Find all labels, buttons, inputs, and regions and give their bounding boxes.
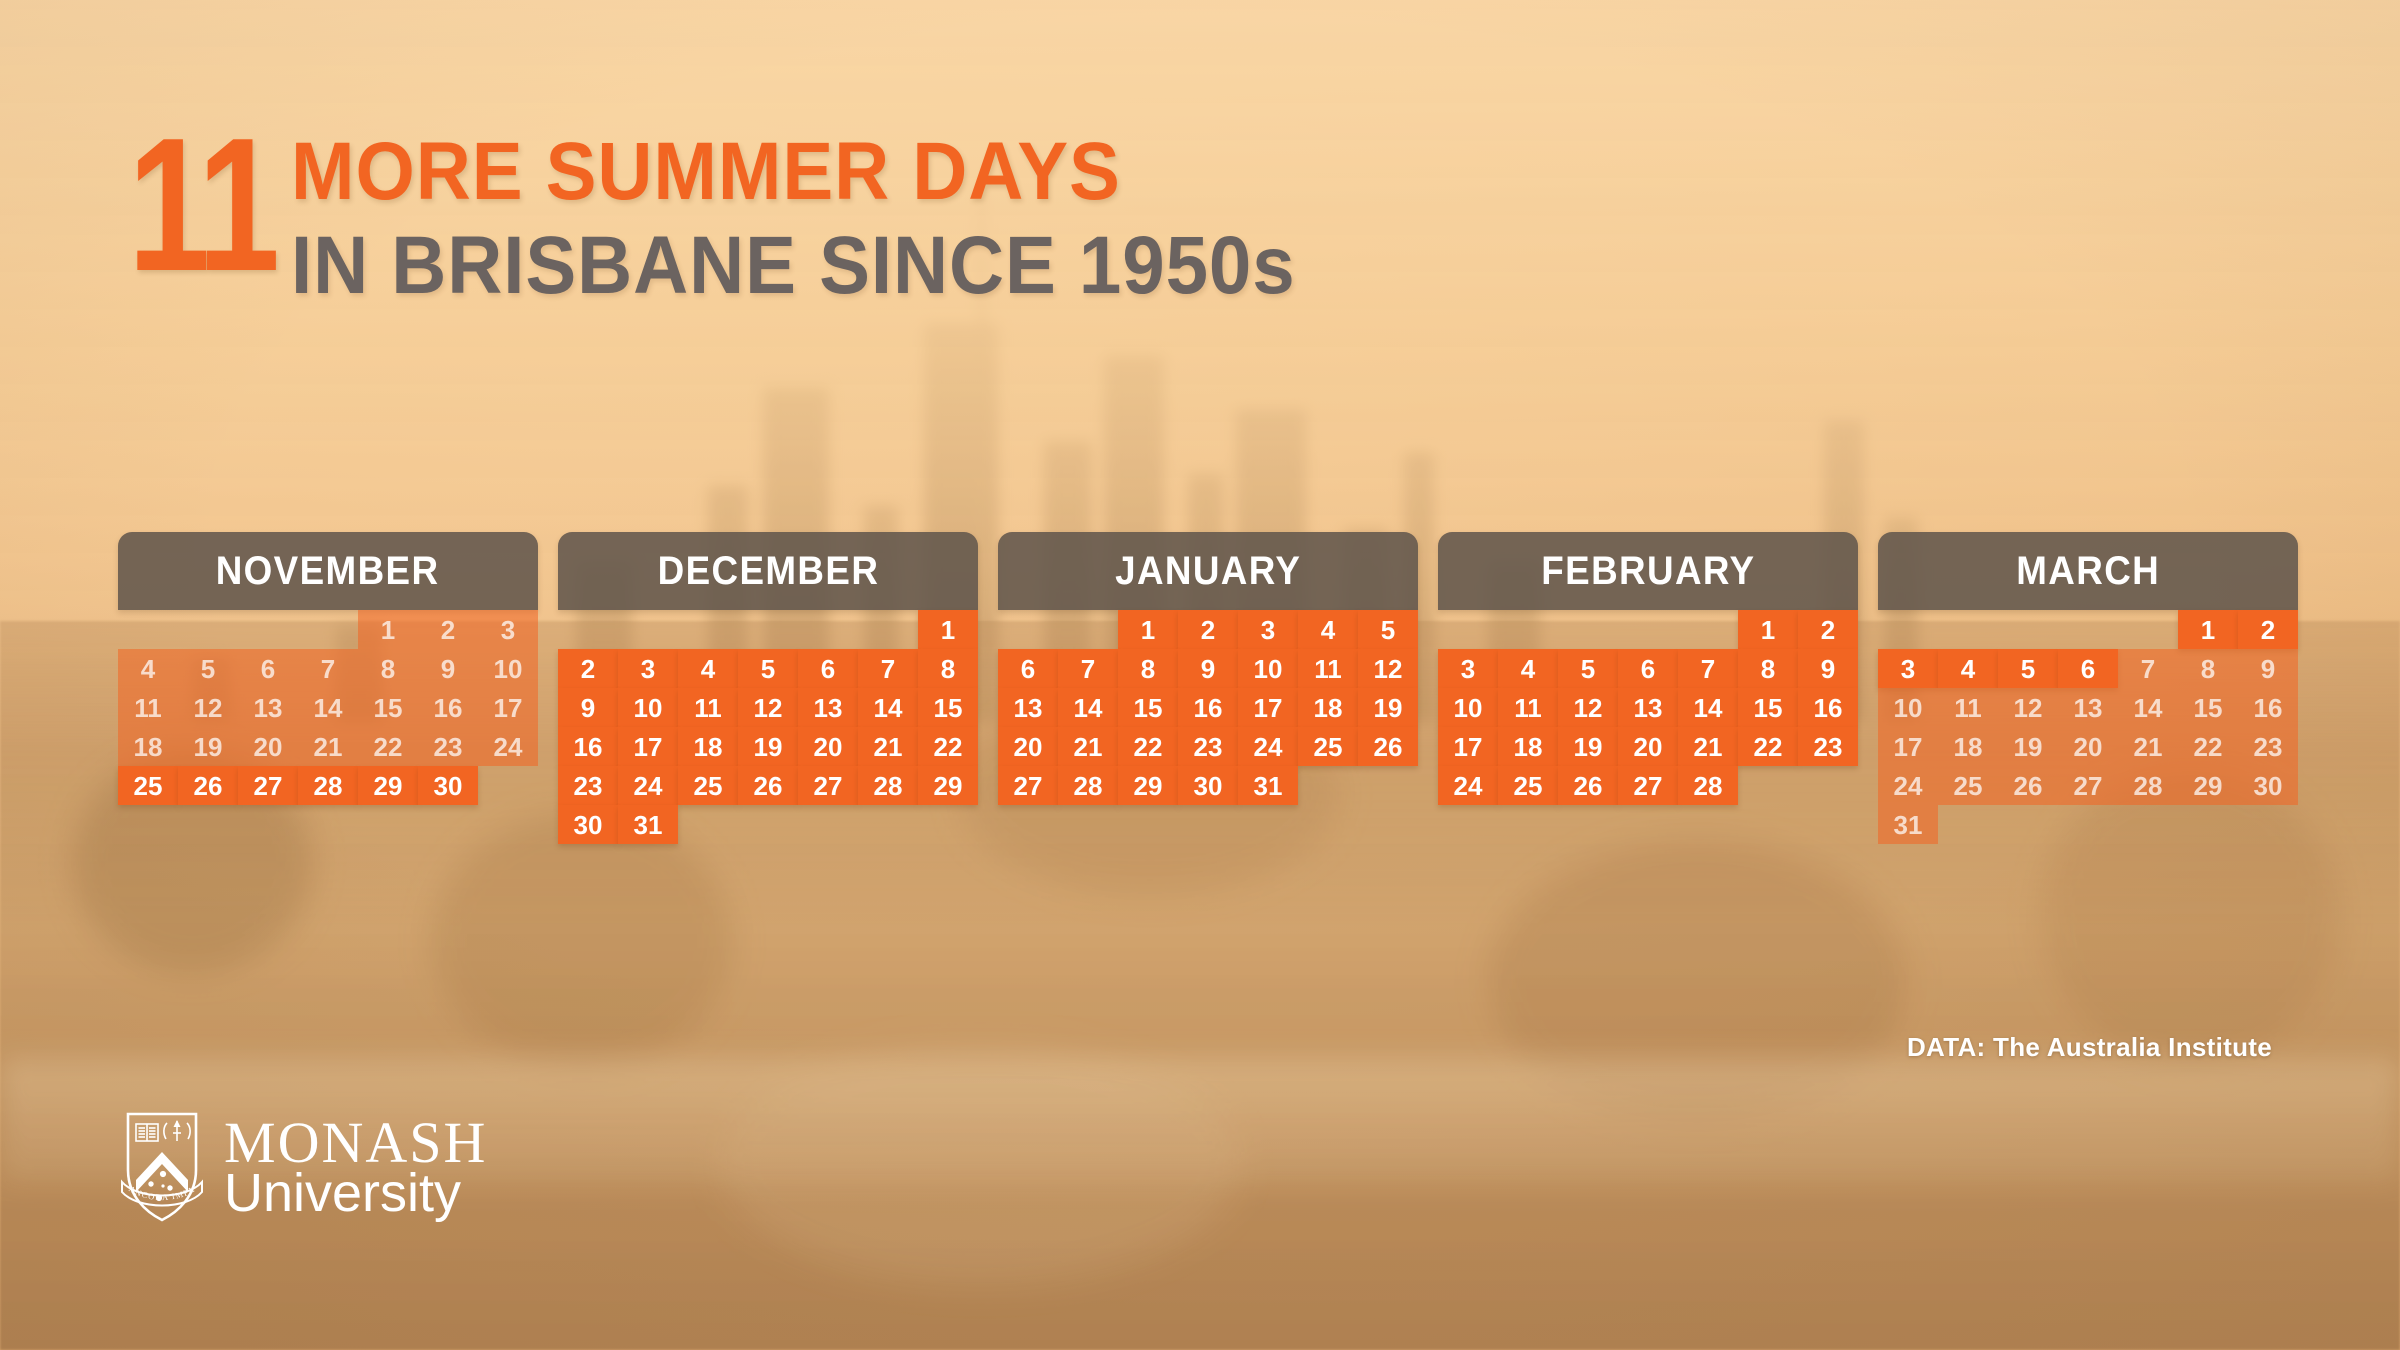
calendar-day-31-faded: 31 [1878,805,1938,844]
calendar-day-22-highlighted: 22 [1118,727,1178,766]
calendar-day-12-highlighted: 12 [1558,688,1618,727]
calendar-cell-empty [178,610,238,649]
calendar-day-28-highlighted: 28 [298,766,358,805]
calendar-day-6-highlighted: 6 [2058,649,2118,688]
calendar-day-7-highlighted: 7 [1058,649,1118,688]
calendar-day-22-highlighted: 22 [918,727,978,766]
calendar-day-6-highlighted: 6 [998,649,1058,688]
calendar-day-22-faded: 22 [2178,727,2238,766]
calendar-cell-empty [678,610,738,649]
calendar-cell-empty [1498,610,1558,649]
calendar-day-28-faded: 28 [2118,766,2178,805]
calendar-day-28-highlighted: 28 [858,766,918,805]
calendar-row: NOVEMBER12345678910111213141516171819202… [118,532,2298,844]
calendar-card-december: DECEMBER12345678910111213141516171819202… [558,532,978,844]
calendar-day-15-highlighted: 15 [1118,688,1178,727]
data-credit: DATA: The Australia Institute [1907,1032,2272,1063]
calendar-day-24-highlighted: 24 [1438,766,1498,805]
calendar-day-20-faded: 20 [238,727,298,766]
calendar-day-4-faded: 4 [118,649,178,688]
calendar-cell-empty [1058,610,1118,649]
calendar-day-10-highlighted: 10 [1438,688,1498,727]
calendar-day-14-highlighted: 14 [1058,688,1118,727]
calendar-day-3-faded: 3 [478,610,538,649]
calendar-day-23-highlighted: 23 [1798,727,1858,766]
calendar-day-16-faded: 16 [2238,688,2298,727]
calendar-cell-empty [1998,610,2058,649]
calendar-day-14-highlighted: 14 [858,688,918,727]
calendar-month-label: NOVEMBER [216,549,440,594]
calendar-day-13-highlighted: 13 [1618,688,1678,727]
calendar-card-november: NOVEMBER12345678910111213141516171819202… [118,532,538,844]
logo-monash-text: MONASH [224,1115,487,1170]
calendar-day-17-highlighted: 17 [1438,727,1498,766]
calendar-day-8-faded: 8 [2178,649,2238,688]
calendar-day-2-highlighted: 2 [2238,610,2298,649]
calendar-day-31-highlighted: 31 [1238,766,1298,805]
calendar-day-30-highlighted: 30 [418,766,478,805]
calendar-day-4-highlighted: 4 [678,649,738,688]
calendar-day-15-highlighted: 15 [1738,688,1798,727]
calendar-day-19-faded: 19 [178,727,238,766]
calendar-grid: 1234567891011121314151617181920212223242… [998,610,1418,805]
calendar-day-24-faded: 24 [1878,766,1938,805]
calendar-day-8-faded: 8 [358,649,418,688]
calendar-cell-empty [618,610,678,649]
calendar-month-label: JANUARY [1115,549,1301,594]
calendar-day-15-highlighted: 15 [918,688,978,727]
calendar-cell-empty [118,610,178,649]
calendar-day-3-highlighted: 3 [1438,649,1498,688]
calendar-day-16-highlighted: 16 [558,727,618,766]
calendar-month-header: DECEMBER [558,532,978,610]
calendar-day-5-highlighted: 5 [738,649,798,688]
calendar-day-15-faded: 15 [2178,688,2238,727]
calendar-card-january: JANUARY123456789101112131415161718192021… [998,532,1418,844]
calendar-day-4-highlighted: 4 [1498,649,1558,688]
calendar-day-10-faded: 10 [1878,688,1938,727]
calendar-day-9-highlighted: 9 [1798,649,1858,688]
calendar-day-7-highlighted: 7 [1678,649,1738,688]
calendar-day-29-highlighted: 29 [918,766,978,805]
calendar-day-25-highlighted: 25 [1498,766,1558,805]
calendar-day-18-highlighted: 18 [678,727,738,766]
calendar-day-8-highlighted: 8 [918,649,978,688]
calendar-day-2-faded: 2 [418,610,478,649]
headline-block: 11 MORE SUMMER DAYS IN BRISBANE SINCE 19… [128,118,1371,307]
calendar-day-23-highlighted: 23 [1178,727,1238,766]
headline-line-1: MORE SUMMER DAYS [291,132,1296,212]
calendar-day-25-highlighted: 25 [678,766,738,805]
calendar-day-9-faded: 9 [2238,649,2298,688]
calendar-day-21-highlighted: 21 [1058,727,1118,766]
calendar-day-16-highlighted: 16 [1178,688,1238,727]
calendar-day-30-highlighted: 30 [1178,766,1238,805]
calendar-day-23-faded: 23 [2238,727,2298,766]
calendar-day-3-highlighted: 3 [1878,649,1938,688]
calendar-day-1-faded: 1 [358,610,418,649]
calendar-month-header: FEBRUARY [1438,532,1858,610]
calendar-day-25-faded: 25 [1938,766,1998,805]
calendar-cell-empty [1678,610,1738,649]
calendar-day-16-highlighted: 16 [1798,688,1858,727]
calendar-day-12-faded: 12 [178,688,238,727]
calendar-day-21-highlighted: 21 [1678,727,1738,766]
calendar-day-27-highlighted: 27 [238,766,298,805]
calendar-day-2-highlighted: 2 [1178,610,1238,649]
calendar-day-31-highlighted: 31 [618,805,678,844]
calendar-day-6-highlighted: 6 [798,649,858,688]
calendar-day-20-highlighted: 20 [1618,727,1678,766]
calendar-day-8-highlighted: 8 [1118,649,1178,688]
calendar-day-13-highlighted: 13 [998,688,1058,727]
calendar-day-15-faded: 15 [358,688,418,727]
calendar-day-28-highlighted: 28 [1058,766,1118,805]
calendar-day-7-faded: 7 [298,649,358,688]
calendar-day-5-faded: 5 [178,649,238,688]
calendar-day-25-highlighted: 25 [1298,727,1358,766]
calendar-day-29-highlighted: 29 [358,766,418,805]
calendar-day-9-faded: 9 [418,649,478,688]
calendar-grid: 1234567891011121314151617181920212223242… [1878,610,2298,844]
calendar-month-header: NOVEMBER [118,532,538,610]
calendar-day-29-highlighted: 29 [1118,766,1178,805]
calendar-day-21-highlighted: 21 [858,727,918,766]
calendar-day-28-highlighted: 28 [1678,766,1738,805]
calendar-cell-empty [858,610,918,649]
calendar-grid: 1234567891011121314151617181920212223242… [558,610,978,844]
calendar-day-2-highlighted: 2 [558,649,618,688]
calendar-cell-empty [1558,610,1618,649]
calendar-day-11-highlighted: 11 [678,688,738,727]
calendar-day-26-faded: 26 [1998,766,2058,805]
calendar-day-23-faded: 23 [418,727,478,766]
calendar-day-14-highlighted: 14 [1678,688,1738,727]
calendar-card-february: FEBRUARY12345678910111213141516171819202… [1438,532,1858,844]
calendar-cell-empty [558,610,618,649]
calendar-day-4-highlighted: 4 [1298,610,1358,649]
calendar-day-21-faded: 21 [298,727,358,766]
calendar-day-12-highlighted: 12 [738,688,798,727]
calendar-day-14-faded: 14 [2118,688,2178,727]
calendar-day-27-highlighted: 27 [998,766,1058,805]
calendar-day-19-highlighted: 19 [1358,688,1418,727]
calendar-day-27-highlighted: 27 [798,766,858,805]
calendar-day-3-highlighted: 3 [618,649,678,688]
calendar-cell-empty [2058,610,2118,649]
calendar-month-header: MARCH [1878,532,2298,610]
calendar-day-7-faded: 7 [2118,649,2178,688]
calendar-cell-empty [1618,610,1678,649]
calendar-day-12-highlighted: 12 [1358,649,1418,688]
calendar-cell-empty [298,610,358,649]
calendar-day-13-faded: 13 [238,688,298,727]
monash-motto-text: ANCORA IMPARO [118,1108,197,1202]
calendar-day-8-highlighted: 8 [1738,649,1798,688]
calendar-month-label: FEBRUARY [1541,549,1755,594]
calendar-day-10-highlighted: 10 [618,688,678,727]
calendar-day-26-highlighted: 26 [738,766,798,805]
calendar-day-16-faded: 16 [418,688,478,727]
calendar-day-17-highlighted: 17 [618,727,678,766]
headline-big-number: 11 [128,118,275,293]
calendar-day-24-faded: 24 [478,727,538,766]
calendar-day-6-faded: 6 [238,649,298,688]
calendar-day-12-faded: 12 [1998,688,2058,727]
calendar-day-17-highlighted: 17 [1238,688,1298,727]
calendar-cell-empty [738,610,798,649]
monash-shield-icon: ANCORA IMPARO [118,1108,206,1226]
calendar-day-18-highlighted: 18 [1498,727,1558,766]
calendar-day-14-faded: 14 [298,688,358,727]
logo-university-text: University [224,1168,487,1219]
calendar-cell-empty [798,610,858,649]
calendar-day-17-faded: 17 [1878,727,1938,766]
calendar-day-11-faded: 11 [1938,688,1998,727]
calendar-day-10-highlighted: 10 [1238,649,1298,688]
calendar-day-2-highlighted: 2 [1798,610,1858,649]
calendar-cell-empty [1878,610,1938,649]
calendar-day-18-faded: 18 [1938,727,1998,766]
calendar-day-23-highlighted: 23 [558,766,618,805]
monash-logo-wordmark: MONASH University [224,1115,487,1219]
calendar-cell-empty [1938,610,1998,649]
calendar-day-18-highlighted: 18 [1298,688,1358,727]
calendar-day-30-faded: 30 [2238,766,2298,805]
calendar-cell-empty [998,610,1058,649]
calendar-day-27-highlighted: 27 [1618,766,1678,805]
calendar-day-9-highlighted: 9 [1178,649,1238,688]
calendar-day-5-highlighted: 5 [1358,610,1418,649]
calendar-day-4-highlighted: 4 [1938,649,1998,688]
calendar-day-1-highlighted: 1 [1118,610,1178,649]
calendar-day-6-highlighted: 6 [1618,649,1678,688]
calendar-day-19-faded: 19 [1998,727,2058,766]
headline-line-2: IN BRISBANE SINCE 1950s [291,226,1296,306]
calendar-day-24-highlighted: 24 [618,766,678,805]
calendar-cell-empty [238,610,298,649]
calendar-day-29-faded: 29 [2178,766,2238,805]
calendar-day-13-highlighted: 13 [798,688,858,727]
calendar-month-label: DECEMBER [657,549,879,594]
calendar-day-22-highlighted: 22 [1738,727,1798,766]
calendar-day-18-faded: 18 [118,727,178,766]
calendar-day-1-highlighted: 1 [918,610,978,649]
calendar-day-7-highlighted: 7 [858,649,918,688]
calendar-day-9-highlighted: 9 [558,688,618,727]
calendar-month-header: JANUARY [998,532,1418,610]
calendar-grid: 1234567891011121314151617181920212223242… [1438,610,1858,805]
calendar-day-3-highlighted: 3 [1238,610,1298,649]
calendar-day-1-highlighted: 1 [1738,610,1798,649]
calendar-day-19-highlighted: 19 [1558,727,1618,766]
calendar-cell-empty [1438,610,1498,649]
calendar-day-21-faded: 21 [2118,727,2178,766]
calendar-day-20-highlighted: 20 [998,727,1058,766]
calendar-card-march: MARCH12345678910111213141516171819202122… [1878,532,2298,844]
calendar-day-5-highlighted: 5 [1998,649,2058,688]
headline-lines: MORE SUMMER DAYS IN BRISBANE SINCE 1950s [291,118,1371,307]
calendar-day-17-faded: 17 [478,688,538,727]
monash-university-logo: ANCORA IMPARO MONASH University [118,1108,487,1226]
calendar-day-11-highlighted: 11 [1298,649,1358,688]
calendar-grid: 1234567891011121314151617181920212223242… [118,610,538,805]
calendar-day-26-highlighted: 26 [1358,727,1418,766]
calendar-day-11-faded: 11 [118,688,178,727]
calendar-day-27-faded: 27 [2058,766,2118,805]
calendar-month-label: MARCH [2016,549,2160,594]
calendar-day-13-faded: 13 [2058,688,2118,727]
calendar-day-25-highlighted: 25 [118,766,178,805]
calendar-day-1-highlighted: 1 [2178,610,2238,649]
calendar-day-26-highlighted: 26 [178,766,238,805]
calendar-day-20-highlighted: 20 [798,727,858,766]
calendar-day-26-highlighted: 26 [1558,766,1618,805]
calendar-day-19-highlighted: 19 [738,727,798,766]
calendar-day-11-highlighted: 11 [1498,688,1558,727]
calendar-day-5-highlighted: 5 [1558,649,1618,688]
calendar-day-20-faded: 20 [2058,727,2118,766]
calendar-day-30-highlighted: 30 [558,805,618,844]
calendar-day-22-faded: 22 [358,727,418,766]
calendar-cell-empty [2118,610,2178,649]
calendar-day-10-faded: 10 [478,649,538,688]
calendar-day-24-highlighted: 24 [1238,727,1298,766]
